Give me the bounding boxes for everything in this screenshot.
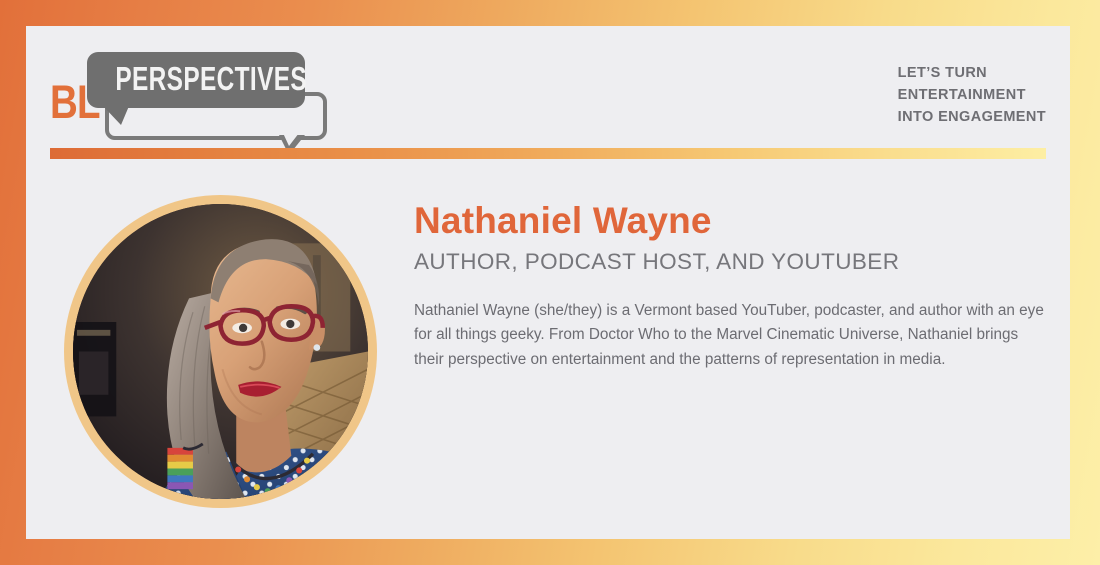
tagline-line-3: INTO ENGAGEMENT (898, 106, 1046, 128)
profile-role: AUTHOR, PODCAST HOST, AND YOUTUBER (414, 248, 1058, 275)
tagline-line-2: ENTERTAINMENT (898, 84, 1046, 106)
slide-frame: BL PERSPECTIVES LET’S TURN ENTERTAINMENT… (0, 0, 1100, 565)
brand-wordmark-perspectives: PERSPECTIVES (115, 61, 276, 97)
profile-bio: Nathaniel Wayne (she/they) is a Vermont … (414, 299, 1046, 373)
profile-section: Nathaniel Wayne AUTHOR, PODCAST HOST, AN… (26, 159, 1070, 539)
profile-details: Nathaniel Wayne AUTHOR, PODCAST HOST, AN… (414, 201, 1058, 373)
speech-bubble-filled-tail-icon (103, 106, 129, 125)
header: BL PERSPECTIVES LET’S TURN ENTERTAINMENT… (26, 26, 1070, 148)
gradient-divider (50, 148, 1046, 159)
tagline-line-1: LET’S TURN (898, 62, 1046, 84)
speech-bubble-filled-icon: PERSPECTIVES (87, 52, 305, 108)
content-card: BL PERSPECTIVES LET’S TURN ENTERTAINMENT… (26, 26, 1070, 539)
brand-logo[interactable]: BL PERSPECTIVES (50, 42, 370, 142)
profile-name: Nathaniel Wayne (414, 201, 1058, 242)
brand-tagline: LET’S TURN ENTERTAINMENT INTO ENGAGEMENT (898, 62, 1046, 128)
avatar (64, 195, 377, 508)
avatar-photo (73, 204, 368, 499)
